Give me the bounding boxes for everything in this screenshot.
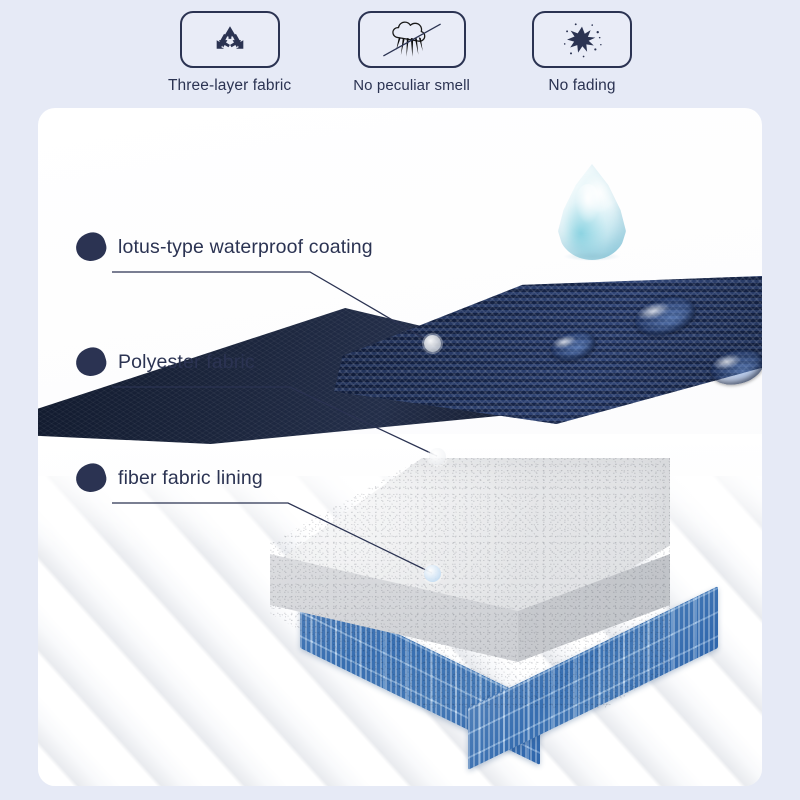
teardrop-bullet-icon: [72, 460, 109, 496]
badge-icon-box: [180, 11, 280, 68]
grey-foam-layer: [270, 458, 670, 708]
badge-label: Three-layer fabric: [168, 77, 291, 95]
callout-label: fiber fabric lining: [118, 467, 263, 490]
product-illustration-card: [38, 108, 762, 786]
teardrop-bullet-icon: [72, 344, 109, 380]
recycle-icon: [213, 23, 247, 57]
callout-label: lotus-type waterproof coating: [118, 236, 373, 259]
badge-icon-box: [532, 11, 632, 68]
callout-coating[interactable]: lotus-type waterproof coating: [76, 233, 373, 261]
foam-speckle-texture: [270, 458, 670, 708]
no-smell-icon: [381, 20, 443, 60]
no-fading-icon: [560, 20, 604, 60]
anchor-dot-coating: [424, 335, 441, 352]
fabric-layer-stack: [38, 108, 762, 786]
badge-icon-box: [358, 11, 466, 68]
badge-no-peculiar-smell[interactable]: No peculiar smell: [353, 11, 470, 94]
callout-polyester[interactable]: Polyester fabric: [76, 348, 255, 376]
teardrop-bullet-icon: [72, 229, 109, 265]
callout-lining[interactable]: fiber fabric lining: [76, 464, 263, 492]
badge-three-layer-fabric[interactable]: Three-layer fabric: [168, 11, 291, 95]
anchor-dot-polyester: [429, 448, 446, 465]
badge-label: No peculiar smell: [353, 77, 470, 94]
badge-label: No fading: [548, 77, 615, 95]
feature-badge-strip: Three-layer fabric No peculiar smell: [0, 0, 800, 108]
callout-label: Polyester fabric: [118, 351, 255, 374]
anchor-dot-lining: [424, 565, 441, 582]
badge-no-fading[interactable]: No fading: [532, 11, 632, 95]
